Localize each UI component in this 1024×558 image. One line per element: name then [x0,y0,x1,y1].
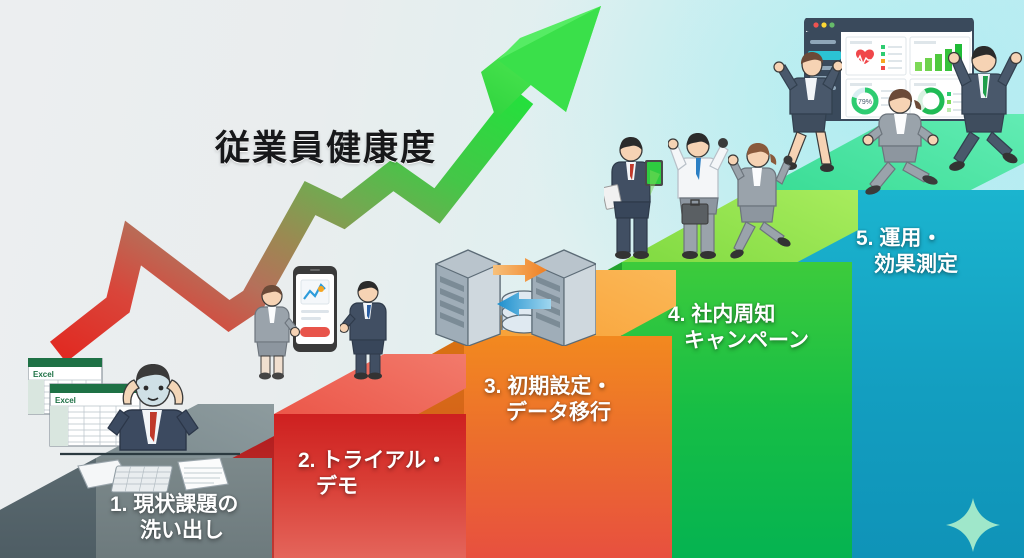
step-2-label: 2. トライアル・ デモ [298,448,447,499]
step-2-block[interactable]: 2. トライアル・ デモ [274,414,466,558]
colleague-running-right [728,142,794,264]
migrate-left-arrow-icon [497,292,551,316]
person-demo-woman [248,284,300,380]
desk-documents [60,450,240,498]
excel-label-2: Excel [55,396,76,405]
step-5-label: 5. 運用・ 効果測定 [856,226,958,277]
person-celebrating-right [948,42,1024,180]
colleague-with-briefcase [668,130,732,262]
step-1-label: 1. 現状課題の 洗い出し [110,492,238,543]
infographic-canvas: 5. 運用・ 効果測定 [0,0,1024,558]
step-3-block[interactable]: 3. 初期設定・ データ移行 [464,336,672,558]
migrate-right-arrow-icon [493,258,547,282]
excel-label-1: Excel [33,370,54,379]
person-demo-man [340,280,394,380]
colleague-with-tablet [604,136,666,260]
step-3-front-face [464,336,672,558]
person-running-center [862,88,940,200]
step-4-label: 4. 社内周知 キャンペーン [668,302,809,353]
step-3-label: 3. 初期設定・ データ移行 [484,374,612,425]
page-title: 従業員健康度 [215,120,437,171]
